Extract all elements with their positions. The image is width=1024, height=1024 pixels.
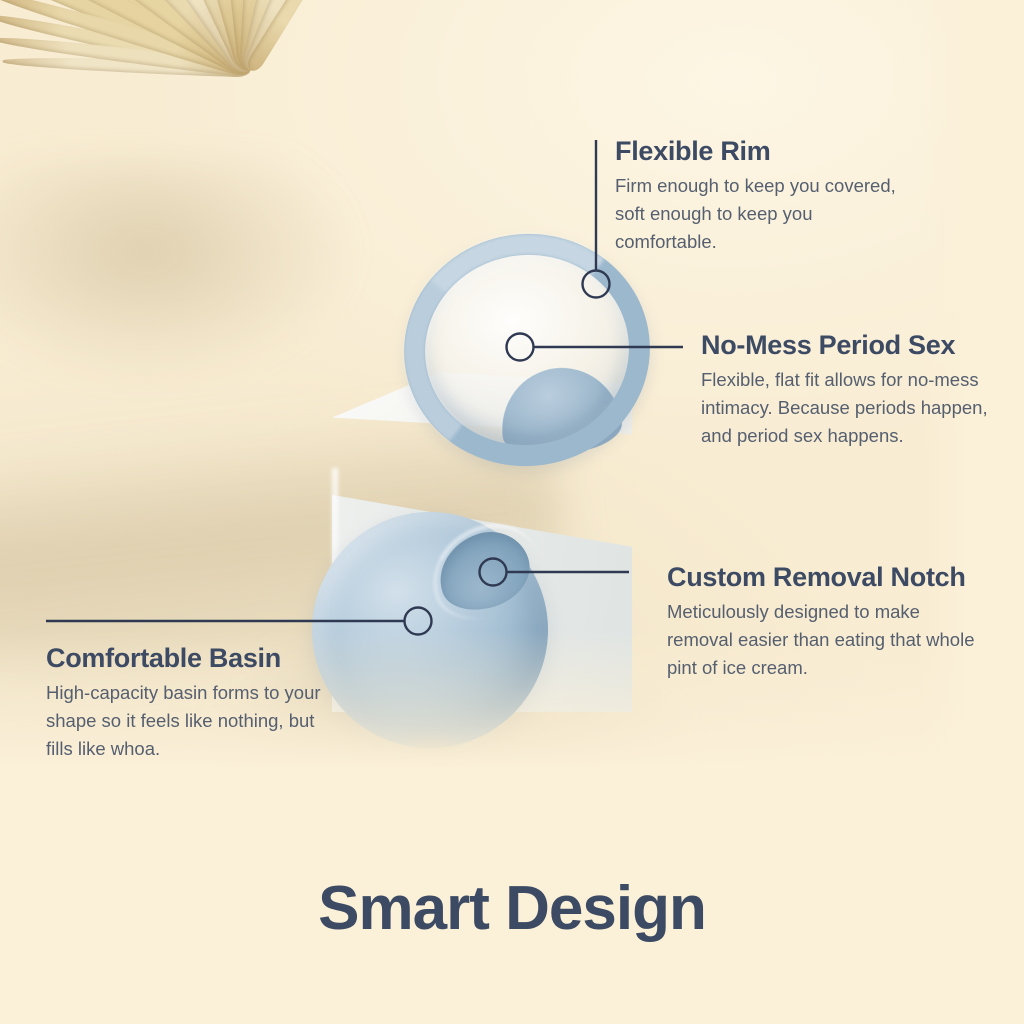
callout-body: Meticulously designed to make removal ea… [667, 598, 987, 682]
callout-heading: No-Mess Period Sex [701, 330, 1001, 362]
callout-heading: Comfortable Basin [46, 643, 346, 675]
callout-no-mess-period-sex: No-Mess Period Sex Flexible, flat fit al… [701, 330, 1001, 450]
callout-heading: Custom Removal Notch [667, 562, 987, 594]
callout-comfortable-basin: Comfortable Basin High-capacity basin fo… [46, 643, 346, 763]
callout-body: High-capacity basin forms to your shape … [46, 679, 346, 763]
disc-rim-highlight [391, 220, 663, 480]
infographic-canvas: Flexible Rim Firm enough to keep you cov… [0, 0, 1024, 1024]
callout-body: Flexible, flat fit allows for no-mess in… [701, 366, 1001, 450]
callout-body: Firm enough to keep you covered, soft en… [615, 172, 915, 256]
callout-flexible-rim: Flexible Rim Firm enough to keep you cov… [615, 136, 915, 256]
callout-custom-removal-notch: Custom Removal Notch Meticulously design… [667, 562, 987, 682]
page-title: Smart Design [0, 878, 1024, 940]
product-disc-upper [404, 234, 650, 466]
callout-heading: Flexible Rim [615, 136, 915, 168]
